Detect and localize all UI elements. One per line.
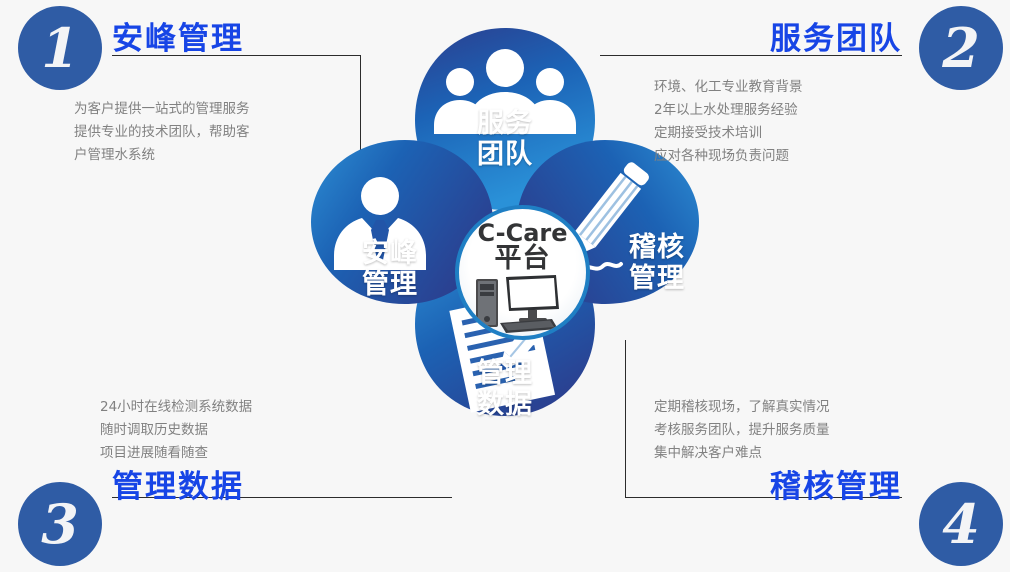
petal-label-service-team: 服务 团队	[455, 108, 555, 170]
body-line: 定期稽核现场，了解真实情况	[654, 396, 830, 419]
badge-number: 4	[942, 497, 980, 551]
petal-label-line1: 安峰	[345, 238, 435, 269]
quadrant-body-service-team: 环境、化工专业教育背景 2年以上水处理服务经验 定期接受技术培训 应对各种现场负…	[654, 76, 803, 168]
petal-label-line1: 管理	[455, 358, 555, 389]
petal-label-line1: 服务	[455, 108, 555, 139]
quadrant-title-audit-management: 稽核管理	[770, 472, 902, 503]
body-line: 2年以上水处理服务经验	[654, 99, 803, 122]
badge-number: 3	[41, 497, 79, 551]
quadrant-body-audit-management: 定期稽核现场，了解真实情况 考核服务团队，提升服务质量 集中解决客户难点	[654, 396, 830, 465]
body-line: 集中解决客户难点	[654, 442, 830, 465]
quadrant-body-anfeng-management: 为客户提供一站式的管理服务 提供专业的技术团队，帮助客 户管理水系统	[74, 98, 250, 167]
petal-label-anfeng-management: 安峰 管理	[345, 238, 435, 300]
quadrant-title-management-data: 管理数据	[112, 472, 244, 503]
petal-label-line2: 管理	[345, 269, 435, 300]
infographic-canvas: 服务 团队 安峰 管理 稽核 管理 管理 数据 C-Care 平台	[0, 0, 1010, 572]
badge-number: 2	[942, 21, 980, 75]
body-line: 考核服务团队，提升服务质量	[654, 419, 830, 442]
hub-title-cn: 平台	[459, 245, 586, 272]
quadrant-body-management-data: 24小时在线检测系统数据 随时调取历史数据 项目进展随看随查	[100, 396, 252, 465]
quadrant-title-service-team: 服务团队	[770, 24, 902, 55]
body-line: 为客户提供一站式的管理服务	[74, 98, 250, 121]
body-line: 24小时在线检测系统数据	[100, 396, 252, 419]
number-badge-1: 1	[18, 6, 102, 90]
number-badge-4: 4	[919, 482, 1003, 566]
body-line: 户管理水系统	[74, 144, 250, 167]
quadrant-title-anfeng-management: 安峰管理	[112, 24, 244, 55]
body-line: 项目进展随看随查	[100, 442, 252, 465]
hub-title-en: C-Care	[459, 221, 586, 245]
body-line: 环境、化工专业教育背景	[654, 76, 803, 99]
petal-label-line2: 团队	[455, 139, 555, 170]
petal-label-management-data: 管理 数据	[455, 358, 555, 420]
body-line: 应对各种现场负责问题	[654, 145, 803, 168]
body-line: 定期接受技术培训	[654, 122, 803, 145]
petal-label-audit-management: 稽核 管理	[612, 232, 702, 294]
body-line: 随时调取历史数据	[100, 419, 252, 442]
number-badge-2: 2	[919, 6, 1003, 90]
body-line: 提供专业的技术团队，帮助客	[74, 121, 250, 144]
center-hub[interactable]: C-Care 平台	[455, 205, 590, 340]
desktop-computer-icon	[460, 275, 588, 337]
number-badge-3: 3	[18, 482, 102, 566]
petal-label-line2: 数据	[455, 389, 555, 420]
petal-label-line1: 稽核	[612, 232, 702, 263]
badge-number: 1	[41, 21, 79, 75]
petal-label-line2: 管理	[612, 263, 702, 294]
